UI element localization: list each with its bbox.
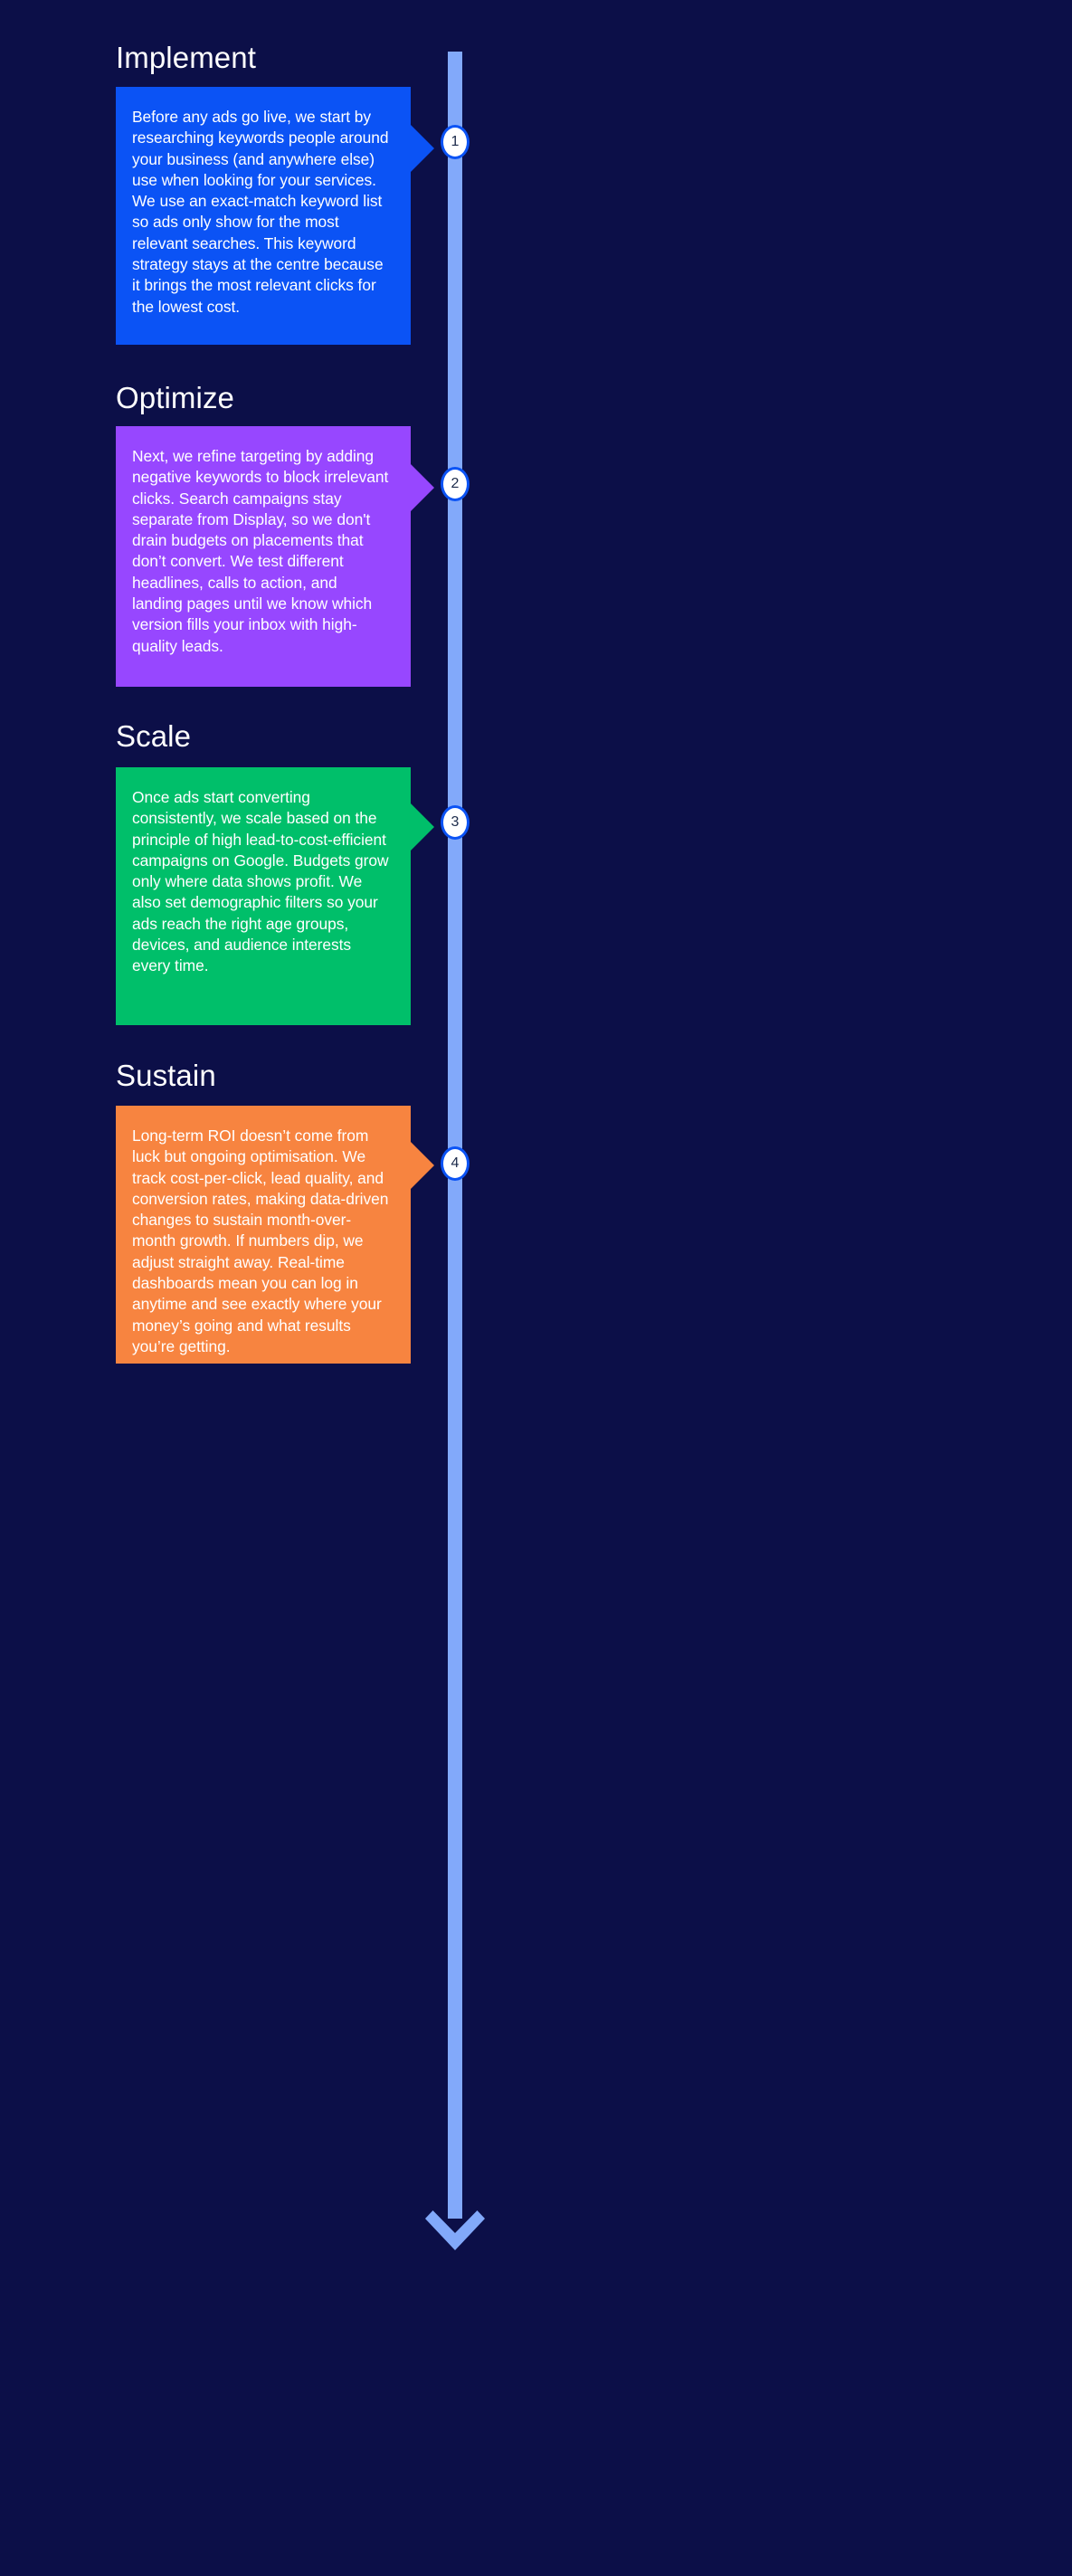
step-body-implement: Before any ads go live, we start by rese… (132, 107, 391, 318)
timeline-marker-1[interactable]: 1 (441, 125, 470, 159)
step-card-optimize[interactable]: Next, we refine targeting by adding nega… (116, 426, 411, 687)
timeline-marker-3[interactable]: 3 (441, 805, 470, 840)
step-card-scale[interactable]: Once ads start converting consistently, … (116, 767, 411, 1025)
process-timeline-infographic: Implement Before any ads go live, we sta… (0, 0, 1072, 2576)
step-card-sustain[interactable]: Long-term ROI doesn’t come from luck but… (116, 1106, 411, 1364)
step-body-scale: Once ads start converting consistently, … (132, 787, 391, 977)
step-body-optimize: Next, we refine targeting by adding nega… (132, 446, 391, 657)
arrow-down-icon (425, 2199, 485, 2260)
card-pointer-notch (411, 803, 434, 851)
step-body-sustain: Long-term ROI doesn’t come from luck but… (132, 1126, 391, 1357)
card-pointer-notch (411, 1142, 434, 1189)
timeline-marker-3-number: 3 (451, 815, 460, 830)
timeline-marker-2[interactable]: 2 (441, 467, 470, 501)
step-title-implement: Implement (116, 41, 256, 75)
timeline-marker-2-number: 2 (451, 477, 460, 491)
card-pointer-notch (411, 464, 434, 511)
timeline-marker-1-number: 1 (451, 135, 460, 149)
step-title-sustain: Sustain (116, 1059, 216, 1093)
step-title-scale: Scale (116, 719, 191, 754)
card-pointer-notch (411, 125, 434, 172)
timeline-marker-4-number: 4 (451, 1156, 460, 1171)
timeline-marker-4[interactable]: 4 (441, 1146, 470, 1181)
step-title-optimize: Optimize (116, 381, 234, 415)
step-card-implement[interactable]: Before any ads go live, we start by rese… (116, 87, 411, 345)
timeline-spine (448, 52, 462, 2219)
